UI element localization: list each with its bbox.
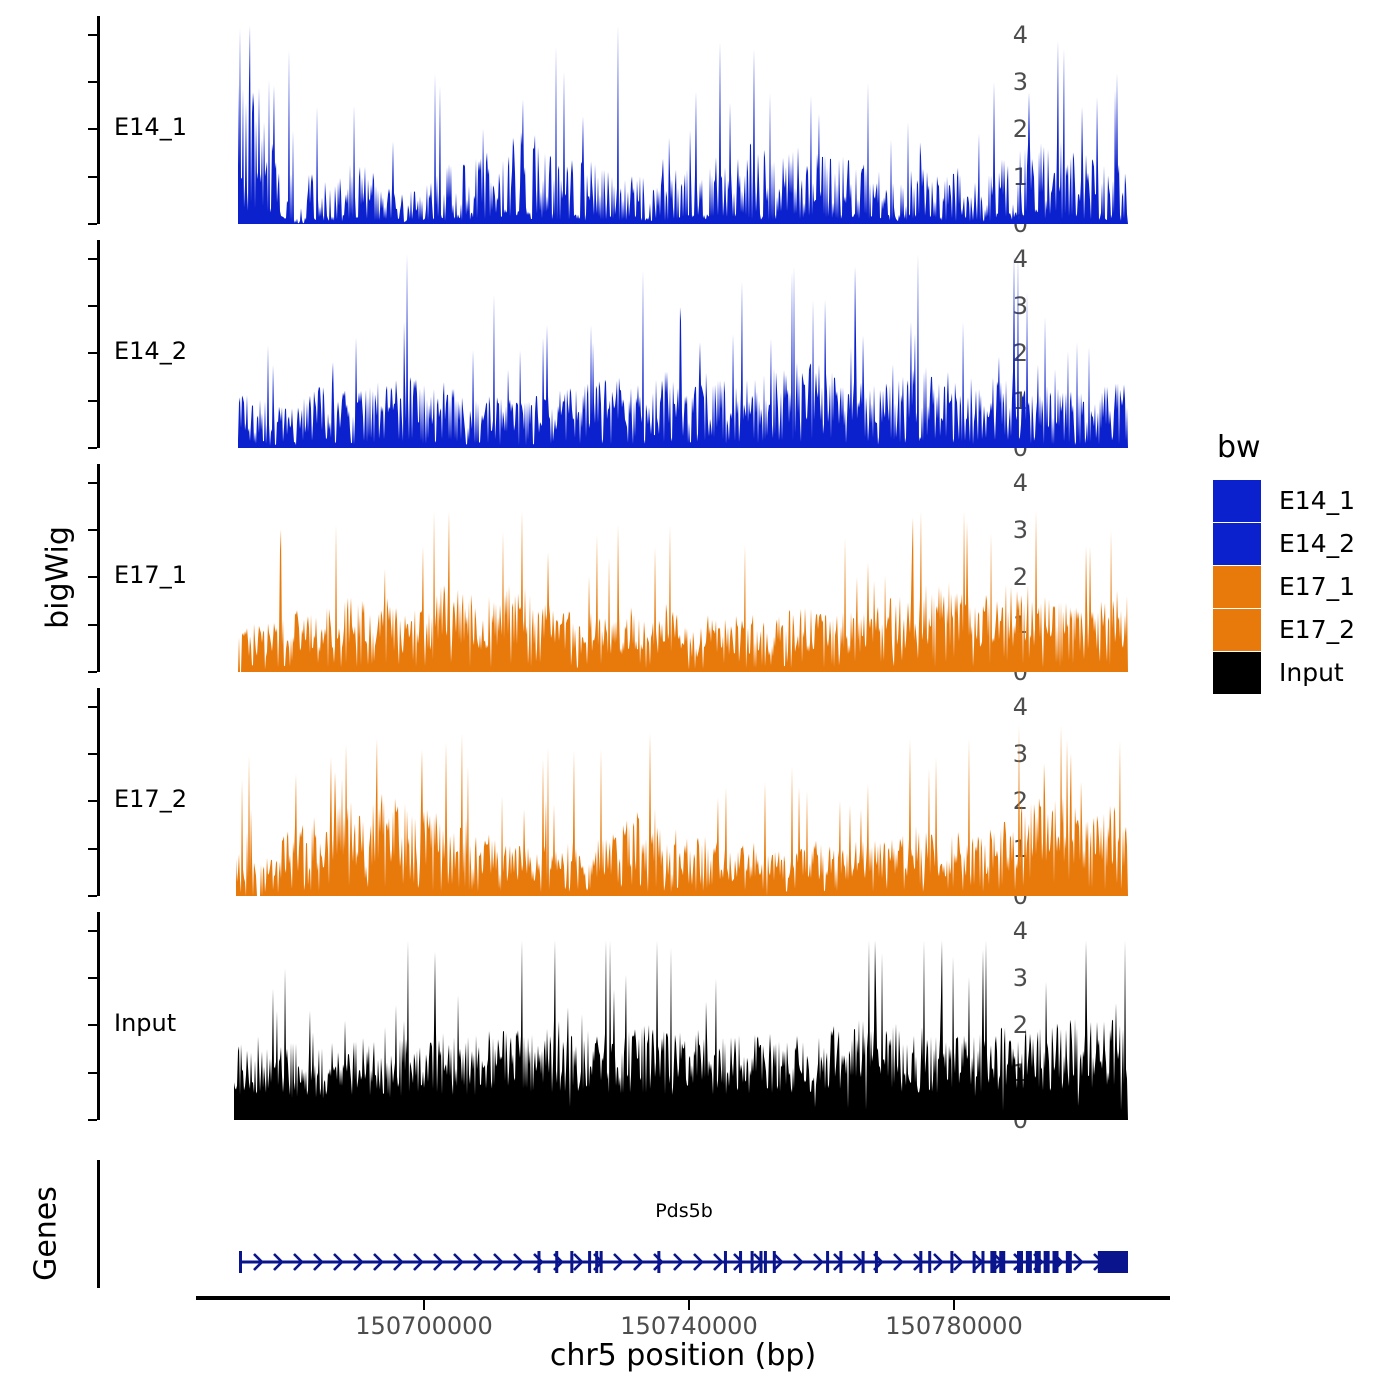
y-tick	[88, 529, 97, 531]
coverage-track-e17_1	[236, 464, 1128, 672]
y-tick	[88, 624, 97, 626]
x-tick-label: 150780000	[885, 1312, 1022, 1340]
y-tick	[88, 800, 97, 802]
signal-panel-input: 01234Input	[97, 912, 1130, 1120]
legend-swatch-e17_1	[1213, 566, 1261, 608]
signal-panel-e14_2: 01234E14_2	[97, 240, 1130, 448]
panel-label-e17_1: E17_1	[114, 561, 187, 589]
legend-swatch-input	[1213, 652, 1261, 694]
y-tick	[88, 258, 97, 260]
genes-axis-title: Genes	[29, 1164, 64, 1304]
coverage-track-e17_2	[236, 688, 1128, 896]
coverage-track-e14_2	[238, 240, 1128, 448]
panel-axis-line	[97, 688, 100, 896]
y-tick	[88, 977, 97, 979]
y-tick	[88, 671, 97, 673]
legend-item-e17_2[interactable]: E17_2	[1213, 608, 1355, 651]
genes-axis-line	[97, 1160, 100, 1288]
legend-item-e17_1[interactable]: E17_1	[1213, 565, 1355, 608]
panel-axis-line	[97, 912, 100, 1120]
legend-swatch-e14_1	[1213, 480, 1261, 522]
legend-label: Input	[1279, 658, 1344, 687]
y-tick	[88, 34, 97, 36]
legend: bw E14_1E14_2E17_1E17_2Input	[1213, 430, 1355, 694]
legend-label: E17_2	[1279, 615, 1355, 644]
legend-item-input[interactable]: Input	[1213, 651, 1355, 694]
y-tick	[88, 1119, 97, 1121]
gene-model[interactable]	[232, 1242, 1144, 1282]
legend-title: bw	[1217, 430, 1355, 465]
legend-items: E14_1E14_2E17_1E17_2Input	[1213, 479, 1355, 694]
x-tick-label: 150700000	[355, 1312, 492, 1340]
legend-swatch-e14_2	[1213, 523, 1261, 565]
y-tick	[88, 81, 97, 83]
signal-panel-e14_1: 01234E14_1	[97, 16, 1130, 224]
panel-label-e17_2: E17_2	[114, 785, 187, 813]
coverage-track-input	[234, 912, 1128, 1120]
x-tick	[688, 1300, 690, 1310]
signal-panel-e17_2: 01234E17_2	[97, 688, 1130, 896]
legend-label: E17_1	[1279, 572, 1355, 601]
y-tick	[88, 305, 97, 307]
panel-label-e14_1: E14_1	[114, 113, 187, 141]
legend-swatch-e17_2	[1213, 609, 1261, 651]
x-axis-title: chr5 position (bp)	[196, 1338, 1170, 1373]
y-tick	[88, 352, 97, 354]
x-tick	[953, 1300, 955, 1310]
panel-axis-line	[97, 240, 100, 448]
panel-axis-line	[97, 16, 100, 224]
y-tick	[88, 930, 97, 932]
legend-label: E14_1	[1279, 486, 1355, 515]
legend-item-e14_2[interactable]: E14_2	[1213, 522, 1355, 565]
y-tick	[88, 848, 97, 850]
y-tick	[88, 753, 97, 755]
panel-axis-line	[97, 464, 100, 672]
y-tick	[88, 1024, 97, 1026]
y-tick	[88, 482, 97, 484]
y-tick	[88, 576, 97, 578]
legend-item-e14_1[interactable]: E14_1	[1213, 479, 1355, 522]
y-tick	[88, 176, 97, 178]
x-tick	[423, 1300, 425, 1310]
y-tick	[88, 223, 97, 225]
y-axis-title: bigWig	[41, 508, 76, 648]
y-tick	[88, 400, 97, 402]
panel-label-input: Input	[114, 1009, 176, 1037]
y-tick	[88, 895, 97, 897]
y-tick	[88, 1072, 97, 1074]
panel-label-e14_2: E14_2	[114, 337, 187, 365]
legend-label: E14_2	[1279, 529, 1355, 558]
y-tick	[88, 706, 97, 708]
gene-name-label: Pds5b	[655, 1200, 713, 1222]
y-tick	[88, 447, 97, 449]
signal-panel-e17_1: 01234E17_1	[97, 464, 1130, 672]
genome-browser-figure: bigWig Genes chr5 position (bp) 01234E14…	[0, 0, 1400, 1400]
coverage-track-e14_1	[238, 16, 1128, 224]
x-tick-label: 150740000	[620, 1312, 757, 1340]
y-tick	[88, 128, 97, 130]
x-axis-line	[196, 1296, 1170, 1300]
